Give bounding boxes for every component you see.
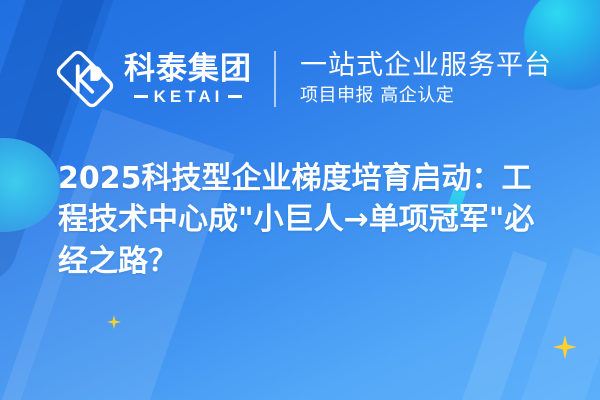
sparkle-icon-large (553, 335, 577, 359)
brand-name-en: KETAI (154, 88, 224, 105)
brand-name-cn: 科泰集团 (124, 54, 252, 85)
brand-name-en-row: KETAI (124, 88, 252, 105)
header-divider (274, 51, 276, 107)
headline-title: 2025科技型企业梯度培育启动：工程技术中心成"小巨人→单项冠军"必经之路？ (58, 158, 558, 282)
dash-left-icon (134, 95, 148, 98)
promo-banner: 科泰集团 KETAI 一站式企业服务平台 项目申报 高企认定 2025科技型企业… (0, 0, 600, 400)
dash-right-icon (228, 95, 242, 98)
sparkle-icon-small (107, 315, 121, 329)
tagline-sub: 项目申报 高企认定 (300, 85, 552, 108)
ketai-diamond-kp-logo-icon (56, 50, 114, 108)
brand-tagline: 一站式企业服务平台 项目申报 高企认定 (300, 51, 552, 108)
cyan-orb-mid-left (0, 138, 60, 232)
brand-wordmark: 科泰集团 KETAI (124, 54, 252, 105)
brand-logo[interactable]: 科泰集团 KETAI (56, 50, 252, 108)
banner-header: 科泰集团 KETAI 一站式企业服务平台 项目申报 高企认定 (0, 38, 600, 120)
tagline-main: 一站式企业服务平台 (300, 51, 552, 81)
